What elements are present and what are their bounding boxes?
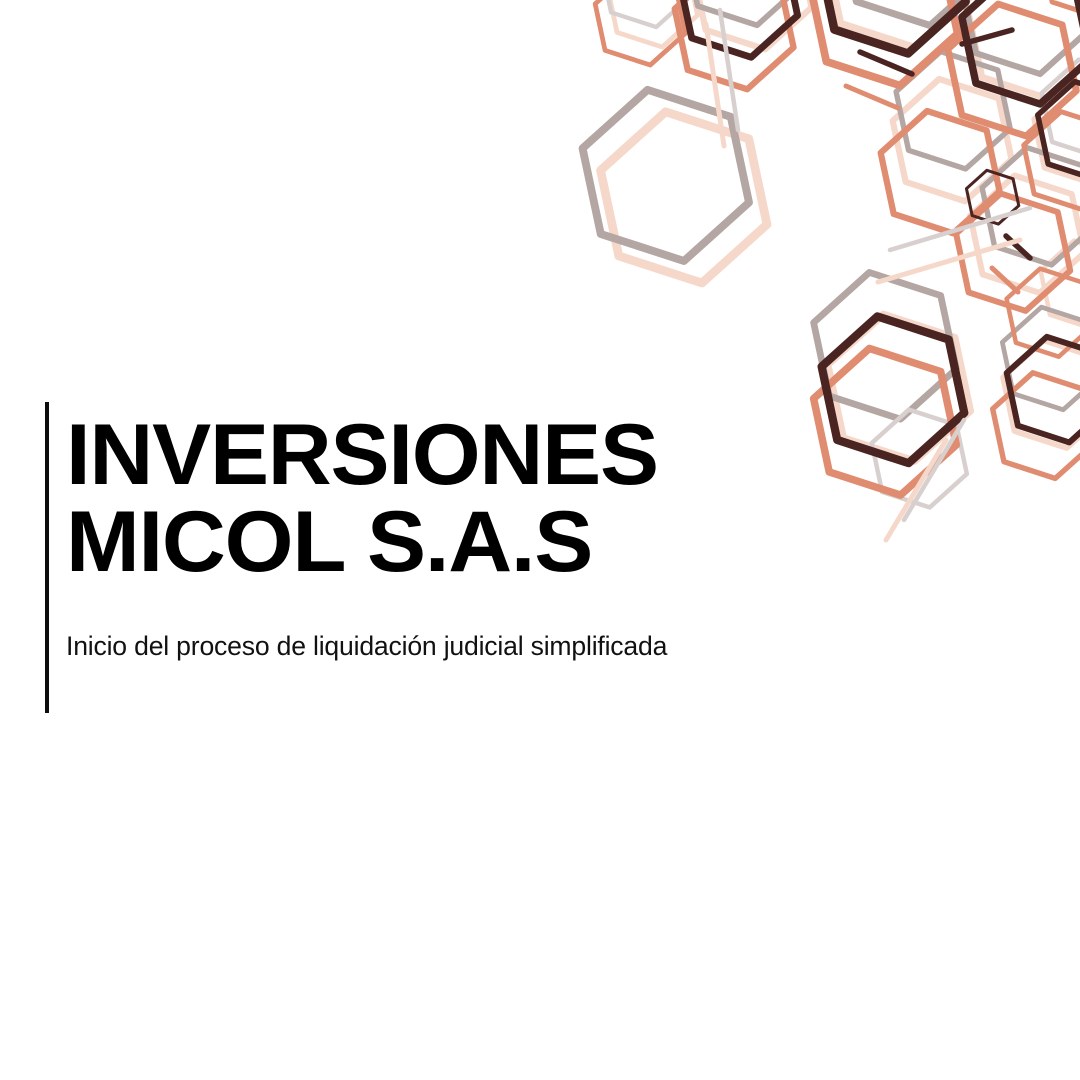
page-subtitle: Inicio del proceso de liquidación judici…: [66, 585, 667, 662]
page-title-line-1: INVERSIONES: [66, 413, 695, 498]
title-block: INVERSIONES MICOL S.A.S Inicio del proce…: [45, 402, 676, 713]
slide-canvas: INVERSIONES MICOL S.A.S Inicio del proce…: [0, 0, 1080, 1080]
title-text-wrapper: INVERSIONES MICOL S.A.S Inicio del proce…: [49, 402, 676, 713]
page-title-line-2: MICOL S.A.S: [66, 500, 695, 585]
